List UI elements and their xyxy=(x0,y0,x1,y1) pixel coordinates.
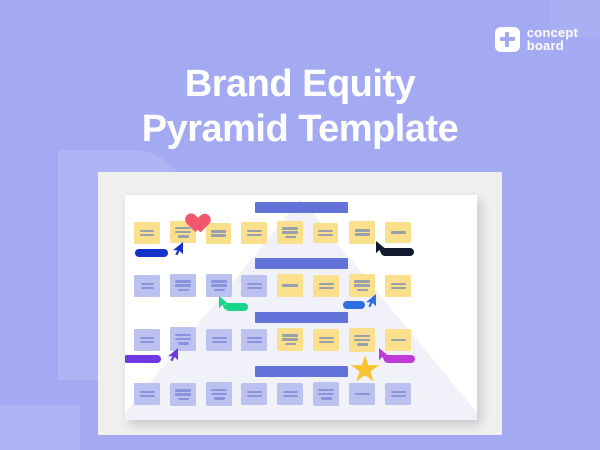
cursor-blue xyxy=(365,293,377,308)
sticky-note-text-line xyxy=(282,284,298,287)
sticky-note-text-line xyxy=(391,395,406,398)
sticky-note[interactable] xyxy=(277,221,303,244)
cursor-green-label-pill xyxy=(225,303,248,311)
sticky-note-text-line xyxy=(178,342,189,345)
sticky-note-text-line xyxy=(247,395,262,398)
sticky-note-text-line xyxy=(355,393,370,396)
sticky-note-text-line xyxy=(318,234,333,237)
sticky-note-text-line xyxy=(140,341,154,344)
plus-square-icon xyxy=(495,27,520,52)
sticky-note-text-line xyxy=(355,229,370,232)
sticky-note-text-line xyxy=(211,234,226,237)
sticky-note-text-line xyxy=(211,280,227,283)
sticky-note-text-line xyxy=(391,283,406,286)
sticky-note-text-line xyxy=(285,236,296,239)
cursor-magenta-label-pill xyxy=(384,355,415,363)
sticky-note-text-line xyxy=(357,289,368,292)
sticky-note-text-line xyxy=(178,398,189,401)
sticky-note[interactable] xyxy=(134,383,160,405)
sticky-note[interactable] xyxy=(313,223,338,243)
sticky-note[interactable] xyxy=(241,275,267,297)
sticky-note[interactable] xyxy=(134,222,160,244)
page-title: Brand Equity Pyramid Template xyxy=(0,62,600,152)
sticky-note[interactable] xyxy=(313,382,339,406)
sticky-note[interactable] xyxy=(206,382,232,406)
sticky-note-text-line xyxy=(211,393,227,396)
sticky-note[interactable] xyxy=(349,221,375,244)
sticky-note-text-line xyxy=(247,283,262,286)
sticky-note-text-line xyxy=(391,339,406,342)
sticky-note-text-line xyxy=(211,230,226,233)
sticky-note-text-line xyxy=(175,284,191,287)
template-card-frame xyxy=(98,172,502,435)
page-title-line-2: Pyramid Template xyxy=(0,107,600,152)
sticky-note-text-line xyxy=(175,338,191,341)
sticky-note[interactable] xyxy=(170,274,196,297)
sticky-note-text-line xyxy=(354,284,370,287)
sticky-note-text-line xyxy=(140,337,154,340)
sticky-note-text-line xyxy=(141,283,154,286)
sticky-note[interactable] xyxy=(313,275,339,297)
sticky-note-text-line xyxy=(247,391,262,394)
sticky-note-text-line xyxy=(282,227,298,230)
conceptboard-logo[interactable]: concept board xyxy=(495,26,578,52)
sticky-note[interactable] xyxy=(313,329,339,351)
sticky-note-text-line xyxy=(175,334,191,337)
sticky-note-text-line xyxy=(354,339,370,342)
sticky-note-text-line xyxy=(140,391,155,394)
sticky-note-text-line xyxy=(247,341,262,344)
sticky-note-text-line xyxy=(140,234,154,237)
sticky-note[interactable] xyxy=(277,274,303,297)
sticky-note[interactable] xyxy=(134,329,160,351)
sticky-note-text-line xyxy=(247,287,262,290)
sticky-note-text-line xyxy=(175,389,191,392)
logo-word-board: board xyxy=(527,39,578,52)
sticky-note[interactable] xyxy=(206,274,232,297)
sticky-note-text-line xyxy=(178,235,189,238)
sticky-note-text-line xyxy=(175,393,191,396)
pyramid-level-header-4[interactable] xyxy=(255,366,348,377)
sticky-note-text-line xyxy=(282,334,298,337)
sticky-note[interactable] xyxy=(277,383,303,405)
sticky-note-text-line xyxy=(391,231,406,234)
sticky-note-text-line xyxy=(175,227,191,230)
sticky-note-text-line xyxy=(282,231,298,234)
sticky-note-text-line xyxy=(319,337,334,340)
sticky-note-text-line xyxy=(391,287,406,290)
sticky-note-text-line xyxy=(282,338,298,341)
pyramid-level-header-3[interactable] xyxy=(255,312,348,323)
sticky-note-text-line xyxy=(247,337,262,340)
cursor-dark-label-pill xyxy=(381,248,414,256)
sticky-note-text-line xyxy=(321,397,332,400)
sticky-note-text-line xyxy=(319,287,334,290)
background-rect-bottom-left xyxy=(0,405,80,450)
sticky-note[interactable] xyxy=(241,222,267,244)
pyramid-level-header-1[interactable] xyxy=(255,202,348,213)
sticky-note-text-line xyxy=(212,341,227,344)
sticky-note-text-line xyxy=(318,230,333,233)
sticky-note[interactable] xyxy=(385,222,411,243)
sticky-note-text-line xyxy=(318,389,334,392)
pyramid-level-header-2[interactable] xyxy=(255,258,348,269)
sticky-note[interactable] xyxy=(206,329,232,351)
sticky-note-text-line xyxy=(212,337,227,340)
sticky-note-text-line xyxy=(319,283,334,286)
sticky-note-text-line xyxy=(247,230,262,233)
sticky-note-text-line xyxy=(283,391,298,394)
page-title-line-1: Brand Equity xyxy=(0,62,600,107)
cursor-navy-label-pill xyxy=(135,249,168,257)
sticky-note[interactable] xyxy=(134,275,160,297)
sticky-note-text-line xyxy=(178,289,189,292)
sticky-note-text-line xyxy=(354,335,370,338)
sticky-note-text-line xyxy=(283,395,298,398)
sticky-note[interactable] xyxy=(206,223,231,244)
sticky-note-text-line xyxy=(247,234,262,237)
sticky-note-text-line xyxy=(175,231,191,234)
sticky-note-text-line xyxy=(175,280,191,283)
heart-sticker[interactable] xyxy=(181,205,203,225)
sticky-note-text-line xyxy=(285,343,296,346)
sticky-note[interactable] xyxy=(385,275,411,297)
sticky-note-text-line xyxy=(357,343,368,346)
cursor-blue-label-pill xyxy=(343,301,365,309)
sticky-note[interactable] xyxy=(241,383,267,405)
sticky-note[interactable] xyxy=(385,383,411,405)
sticky-note[interactable] xyxy=(349,383,375,405)
sticky-note-text-line xyxy=(318,393,334,396)
sticky-note[interactable] xyxy=(241,329,267,351)
sticky-note-text-line xyxy=(214,397,225,400)
sticky-note-text-line xyxy=(141,287,154,290)
cursor-purple-label-pill xyxy=(125,355,161,363)
sticky-note-text-line xyxy=(140,395,155,398)
sticky-note[interactable] xyxy=(349,328,375,352)
sticky-note-text-line xyxy=(211,284,227,287)
cursor-navy xyxy=(172,241,184,256)
sticky-note-text-line xyxy=(214,289,225,292)
sticky-note-text-line xyxy=(355,233,370,236)
sticky-note[interactable] xyxy=(277,328,303,351)
sticky-note-text-line xyxy=(354,280,370,283)
sticky-note-text-line xyxy=(319,341,334,344)
sticky-note-text-line xyxy=(211,389,227,392)
sticky-note-text-line xyxy=(391,391,406,394)
whiteboard-canvas[interactable] xyxy=(125,195,477,420)
cursor-purple xyxy=(167,347,179,362)
logo-wordmark: concept board xyxy=(527,26,578,52)
sticky-note-text-line xyxy=(140,230,154,233)
sticky-note[interactable] xyxy=(170,383,196,406)
